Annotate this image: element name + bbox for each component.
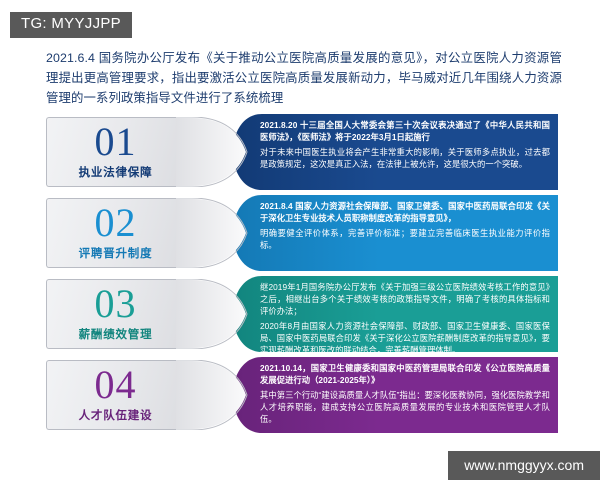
panel-text-block: 2021.10.14，国家卫生健康委和国家中医药管理局联合印发《公立医院高质量发… xyxy=(260,363,550,426)
row-number-card: 01执业法律保障 xyxy=(46,117,176,187)
panel-paragraph: 2020年8月由国家人力资源社会保障部、财政部、国家卫生健康委、国家医保局、国家… xyxy=(260,321,550,352)
panel-paragraph: 对于未来中国医生执业将会产生非常重大的影响，关于医师多点执业，过去都是政策规定，… xyxy=(260,147,550,171)
policy-row: 继2019年1月国务院办公厅发布《关于加强三级公立医院绩效考核工作的意见》之后，… xyxy=(0,276,600,355)
row-number-card-inner: 04人才队伍建设 xyxy=(47,361,176,429)
row-number-card: 02评聘晋升制度 xyxy=(46,198,176,268)
card-tail-outline xyxy=(170,198,248,268)
card-tail-outline xyxy=(170,360,248,430)
panel-paragraph: 其中第三个行动“建设高质量人才队伍”指出：要深化医教协同，强化医院教学和人才培养… xyxy=(260,390,550,426)
panel-paragraph: 2021.10.14，国家卫生健康委和国家中医药管理局联合印发《公立医院高质量发… xyxy=(260,363,550,387)
card-tail-outline xyxy=(170,279,248,349)
policy-row-list: 2021.8.20 十三届全国人大常委会第三十次会议表决通过了《中华人民共和国医… xyxy=(0,114,600,436)
panel-paragraph: 2021.8.20 十三届全国人大常委会第三十次会议表决通过了《中华人民共和国医… xyxy=(260,120,550,144)
policy-detail-panel: 2021.8.20 十三届全国人大常委会第三十次会议表决通过了《中华人民共和国医… xyxy=(232,114,558,190)
row-number: 04 xyxy=(95,367,137,404)
row-number: 02 xyxy=(95,205,137,242)
row-category-label: 评聘晋升制度 xyxy=(79,245,153,261)
row-number-card-inner: 01执业法律保障 xyxy=(47,118,176,186)
policy-detail-panel: 2021.8.4 国家人力资源社会保障部、国家卫健委、国家中医药局联合印发《关于… xyxy=(232,195,558,271)
intro-paragraph: 2021.6.4 国务院办公厅发布《关于推动公立医院高质量发展的意见》，对公立医… xyxy=(46,48,562,108)
row-category-label: 人才队伍建设 xyxy=(79,407,153,423)
panel-paragraph: 2021.8.4 国家人力资源社会保障部、国家卫健委、国家中医药局联合印发《关于… xyxy=(260,201,550,225)
row-number-card-inner: 02评聘晋升制度 xyxy=(47,199,176,267)
card-tail-outline xyxy=(170,117,248,187)
row-number: 01 xyxy=(95,124,137,161)
panel-paragraph: 继2019年1月国务院办公厅发布《关于加强三级公立医院绩效考核工作的意见》之后，… xyxy=(260,282,550,318)
row-number-card: 04人才队伍建设 xyxy=(46,360,176,430)
policy-row: 2021.8.4 国家人力资源社会保障部、国家卫健委、国家中医药局联合印发《关于… xyxy=(0,195,600,274)
policy-detail-panel: 继2019年1月国务院办公厅发布《关于加强三级公立医院绩效考核工作的意见》之后，… xyxy=(232,276,558,352)
policy-row: 2021.10.14，国家卫生健康委和国家中医药管理局联合印发《公立医院高质量发… xyxy=(0,357,600,436)
row-category-label: 薪酬绩效管理 xyxy=(79,326,153,342)
policy-row: 2021.8.20 十三届全国人大常委会第三十次会议表决通过了《中华人民共和国医… xyxy=(0,114,600,193)
tg-watermark-badge: TG: MYYJJPP xyxy=(10,12,132,38)
row-category-label: 执业法律保障 xyxy=(79,164,153,180)
panel-text-block: 继2019年1月国务院办公厅发布《关于加强三级公立医院绩效考核工作的意见》之后，… xyxy=(260,282,550,352)
panel-text-block: 2021.8.20 十三届全国人大常委会第三十次会议表决通过了《中华人民共和国医… xyxy=(260,120,550,171)
policy-detail-panel: 2021.10.14，国家卫生健康委和国家中医药管理局联合印发《公立医院高质量发… xyxy=(232,357,558,433)
panel-paragraph: 明确要健全评价体系，完善评价标准；要建立完善临床医生执业能力评价指标。 xyxy=(260,228,550,252)
row-number: 03 xyxy=(95,286,137,323)
row-number-card: 03薪酬绩效管理 xyxy=(46,279,176,349)
panel-text-block: 2021.8.4 国家人力资源社会保障部、国家卫健委、国家中医药局联合印发《关于… xyxy=(260,201,550,252)
site-watermark: www.nmggyyx.com xyxy=(448,451,600,480)
row-number-card-inner: 03薪酬绩效管理 xyxy=(47,280,176,348)
